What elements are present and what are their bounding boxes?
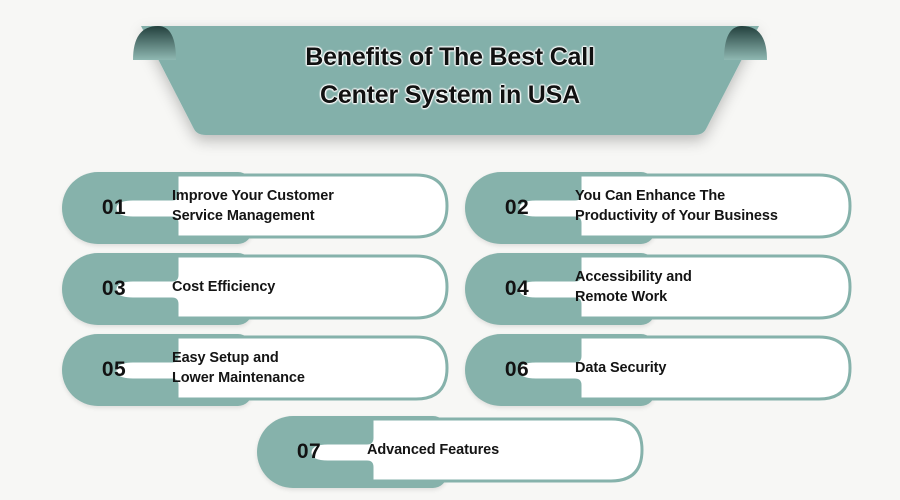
item-label-02: You Can Enhance The Productivity of Your… — [575, 175, 843, 237]
benefit-item-01[interactable]: 01 Improve Your Customer Service Managem… — [62, 172, 447, 244]
item-number-03: 03 — [78, 253, 150, 325]
benefit-item-02[interactable]: 02 You Can Enhance The Productivity of Y… — [465, 172, 850, 244]
item-label-06: Data Security — [575, 337, 843, 399]
benefit-item-05[interactable]: 05 Easy Setup and Lower Maintenance — [62, 334, 447, 406]
infographic-root: Benefits of The Best Call Center System … — [0, 0, 900, 500]
item-number-07: 07 — [273, 416, 345, 488]
item-number-06: 06 — [481, 334, 553, 406]
item-label-05: Easy Setup and Lower Maintenance — [172, 337, 432, 399]
item-number-02: 02 — [481, 172, 553, 244]
benefit-item-07[interactable]: 07 Advanced Features — [257, 416, 642, 488]
item-label-01: Improve Your Customer Service Management — [172, 175, 432, 237]
item-number-01: 01 — [78, 172, 150, 244]
item-number-05: 05 — [78, 334, 150, 406]
item-label-07: Advanced Features — [367, 419, 627, 481]
benefit-item-06[interactable]: 06 Data Security — [465, 334, 850, 406]
item-number-04: 04 — [481, 253, 553, 325]
page-title: Benefits of The Best Call Center System … — [200, 38, 700, 114]
item-label-03: Cost Efficiency — [172, 256, 432, 318]
benefit-item-03[interactable]: 03 Cost Efficiency — [62, 253, 447, 325]
header-banner: Benefits of The Best Call Center System … — [0, 0, 900, 160]
item-label-04: Accessibility and Remote Work — [575, 256, 843, 318]
benefit-item-04[interactable]: 04 Accessibility and Remote Work — [465, 253, 850, 325]
